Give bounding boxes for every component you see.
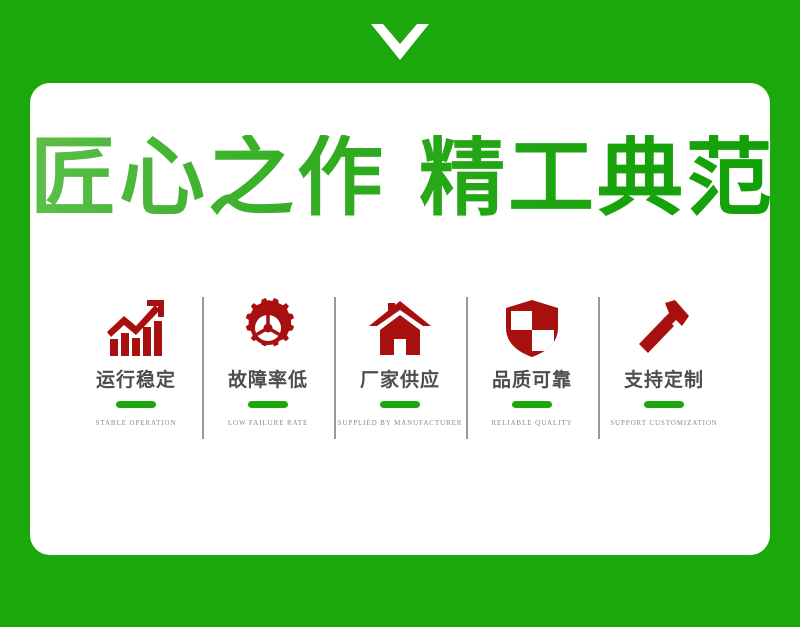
shield-icon <box>500 297 564 359</box>
feature-item-low-failure-rate: 故障率低 LOW FAILURE RATE <box>202 295 334 445</box>
feature-title: 故障率低 <box>228 371 308 390</box>
feature-title: 支持定制 <box>624 371 704 390</box>
feature-item-stable-operation: 运行稳定 STABLE OPERATION <box>70 295 202 445</box>
feature-subtitle: SUPPORT CUSTOMIZATION <box>610 419 718 427</box>
feature-subtitle: STABLE OPERATION <box>96 419 177 427</box>
promo-banner-page: 匠心之作 精工典范 运行稳定 STABLE O <box>0 0 800 627</box>
feature-title: 运行稳定 <box>96 371 176 390</box>
feature-subtitle: RELIABLE QUALITY <box>491 419 572 427</box>
feature-title: 品质可靠 <box>492 371 572 390</box>
factory-house-icon <box>368 297 432 359</box>
feature-list: 运行稳定 STABLE OPERATION 故障率低 <box>70 295 730 445</box>
gear-icon <box>236 297 300 359</box>
feature-title: 厂家供应 <box>360 371 440 390</box>
feature-item-support-customization: 支持定制 SUPPORT CUSTOMIZATION <box>598 295 730 445</box>
feature-item-reliable-quality: 品质可靠 RELIABLE QUALITY <box>466 295 598 445</box>
hammer-icon <box>632 297 696 359</box>
chevron-down-icon <box>371 24 429 60</box>
feature-accent-bar <box>512 401 552 408</box>
growth-chart-icon <box>104 297 168 359</box>
page-title: 匠心之作 精工典范 <box>30 135 770 221</box>
feature-accent-bar <box>116 401 156 408</box>
feature-accent-bar <box>644 401 684 408</box>
feature-accent-bar <box>248 401 288 408</box>
feature-accent-bar <box>380 401 420 408</box>
content-card: 匠心之作 精工典范 运行稳定 STABLE O <box>30 83 770 555</box>
feature-subtitle: LOW FAILURE RATE <box>228 419 308 427</box>
feature-item-supplied-by-manufacturer: 厂家供应 SUPPLIED BY MANUFACTURER <box>334 295 466 445</box>
feature-subtitle: SUPPLIED BY MANUFACTURER <box>338 419 463 427</box>
chevron-down-container <box>0 0 800 83</box>
